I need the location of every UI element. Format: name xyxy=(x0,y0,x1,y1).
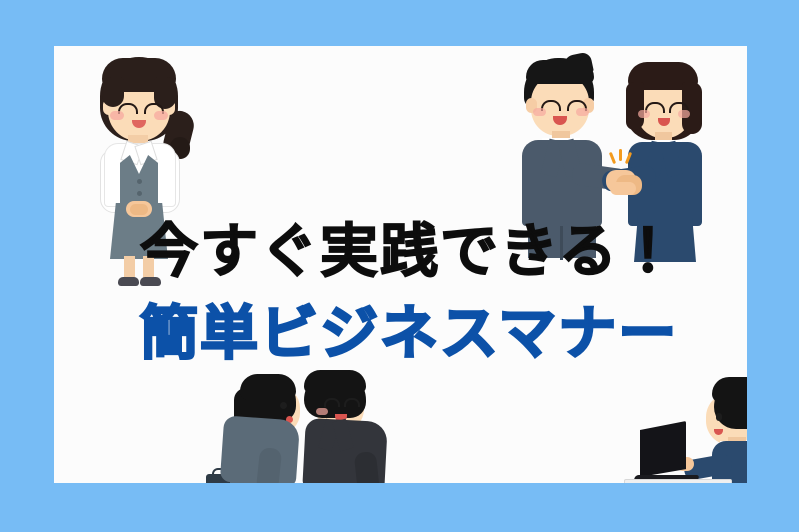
headline-line-2: 簡単ビジネスマナー xyxy=(140,304,678,362)
white-content-card: 今すぐ実践できる！ 簡単ビジネスマナー xyxy=(54,46,747,483)
bowing-left-arm xyxy=(256,447,282,483)
worker-fringe xyxy=(712,377,747,403)
desk-laptop-worker-illustration xyxy=(624,371,747,483)
handshake-hands-fingers xyxy=(610,182,636,195)
woman-sidelock-left xyxy=(102,77,124,107)
desk-top xyxy=(624,479,732,483)
sparkle-icon-left xyxy=(609,152,616,164)
handshake-man-blush-right xyxy=(576,108,589,116)
handshake-man-blush-left xyxy=(533,108,546,116)
bowing-right-eye-left xyxy=(324,398,340,407)
bowing-right-eye-right xyxy=(344,398,360,407)
bowing-right-blush xyxy=(316,408,328,415)
worker-eye xyxy=(716,413,722,421)
sparkle-icon-center xyxy=(619,149,622,161)
bowing-right-fringe xyxy=(304,370,366,394)
woman-shoe-left xyxy=(118,277,139,286)
bowing-left-fringe xyxy=(240,374,296,400)
woman-blush-left xyxy=(110,111,124,120)
bowing-left-eye xyxy=(280,402,287,409)
handshake-woman-sidehair-left xyxy=(626,82,644,130)
handshake-business-pair-illustration xyxy=(506,46,706,246)
woman-clasped-hands-shadow xyxy=(130,204,148,215)
banner-background: 今すぐ実践できる！ 簡単ビジネスマナー xyxy=(0,0,799,532)
woman-vest-button-bottom xyxy=(137,191,142,196)
handshake-woman-blush-left xyxy=(638,110,650,118)
handshake-woman-blush-right xyxy=(678,110,690,118)
bowing-business-pair-illustration xyxy=(204,356,424,483)
woman-blush-right xyxy=(154,111,168,120)
headline-line-1: 今すぐ実践できる！ xyxy=(140,222,679,280)
woman-vest-button-top xyxy=(137,179,142,184)
handshake-man-fringe xyxy=(526,60,594,84)
laptop-screen xyxy=(640,421,686,477)
